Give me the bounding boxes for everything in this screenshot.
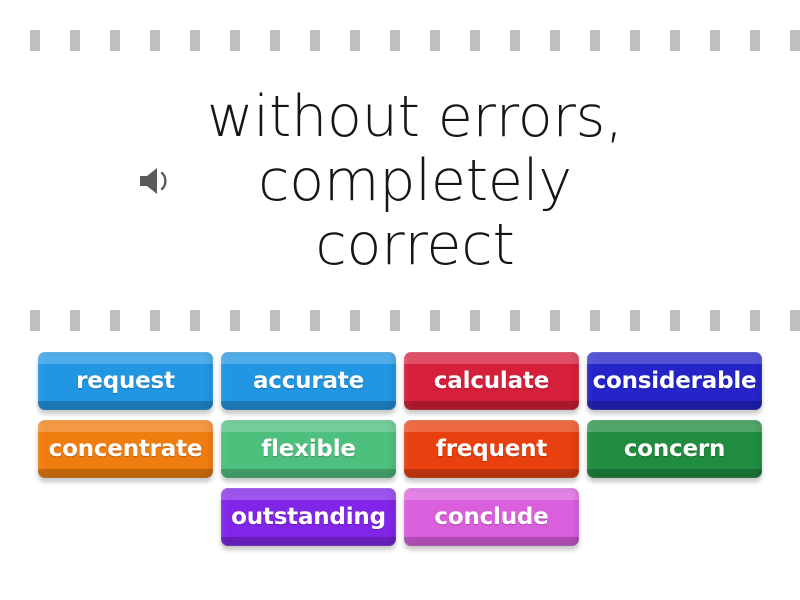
dash-mark xyxy=(310,30,320,51)
answer-tile-label: considerable xyxy=(588,368,762,394)
dash-mark xyxy=(190,30,200,51)
dash-mark xyxy=(710,310,720,331)
dash-mark xyxy=(230,30,240,51)
dash-mark xyxy=(390,310,400,331)
tile-sheen xyxy=(404,420,579,432)
dash-mark xyxy=(670,30,680,51)
answer-tile[interactable]: conclude xyxy=(404,488,579,546)
answer-tile-label: concentrate xyxy=(44,436,208,462)
dash-mark xyxy=(590,310,600,331)
tile-sheen xyxy=(404,352,579,364)
dash-mark xyxy=(510,30,520,51)
dash-mark xyxy=(350,310,360,331)
dash-mark xyxy=(390,30,400,51)
tile-bevel xyxy=(38,401,213,410)
dash-mark xyxy=(750,30,760,51)
tile-sheen xyxy=(587,420,762,432)
tile-sheen xyxy=(38,420,213,432)
tile-bevel xyxy=(404,401,579,410)
dash-mark xyxy=(590,30,600,51)
tile-sheen xyxy=(587,352,762,364)
dash-mark xyxy=(430,310,440,331)
answer-tile[interactable]: outstanding xyxy=(221,488,396,546)
dash-mark xyxy=(110,310,120,331)
dash-mark xyxy=(550,30,560,51)
tile-row-1: request accurate calculate considerable xyxy=(0,352,800,410)
tile-sheen xyxy=(404,488,579,500)
answer-tile-label: outstanding xyxy=(226,504,391,530)
answer-tile[interactable]: calculate xyxy=(404,352,579,410)
tile-bevel xyxy=(587,469,762,478)
dash-mark xyxy=(470,310,480,331)
tile-sheen xyxy=(221,352,396,364)
dash-mark xyxy=(790,30,800,51)
dash-mark xyxy=(430,30,440,51)
dash-mark xyxy=(350,30,360,51)
tile-row-2: concentrate flexible frequent concern xyxy=(0,420,800,478)
tile-sheen xyxy=(221,488,396,500)
dash-mark xyxy=(270,30,280,51)
tile-bevel xyxy=(221,537,396,546)
tile-bevel xyxy=(38,469,213,478)
dash-mark xyxy=(270,310,280,331)
prompt-text: without errors, completely correct xyxy=(135,86,695,277)
dash-mark xyxy=(630,30,640,51)
tile-bevel xyxy=(587,401,762,410)
answer-tile[interactable]: flexible xyxy=(221,420,396,478)
answer-tile[interactable]: request xyxy=(38,352,213,410)
dash-mark xyxy=(30,30,40,51)
dash-mark xyxy=(70,30,80,51)
dash-mark xyxy=(190,310,200,331)
dash-mark xyxy=(510,310,520,331)
dash-mark xyxy=(70,310,80,331)
answer-tile-label: conclude xyxy=(429,504,553,530)
dash-mark xyxy=(110,30,120,51)
answer-tile[interactable]: considerable xyxy=(587,352,762,410)
answer-tile-label: flexible xyxy=(256,436,361,462)
dashed-separator-middle xyxy=(0,310,800,331)
tile-sheen xyxy=(38,352,213,364)
dash-mark xyxy=(710,30,720,51)
answer-tile-label: request xyxy=(71,368,180,394)
answer-tile-label: calculate xyxy=(429,368,554,394)
dash-mark xyxy=(230,310,240,331)
dash-mark xyxy=(310,310,320,331)
answer-tile-label: frequent xyxy=(431,436,552,462)
dashed-separator-top xyxy=(0,30,800,51)
dash-mark xyxy=(150,30,160,51)
answer-tile[interactable]: frequent xyxy=(404,420,579,478)
answer-tile-label: accurate xyxy=(248,368,369,394)
answer-tiles: request accurate calculate considerable … xyxy=(0,352,800,556)
dash-mark xyxy=(470,30,480,51)
answer-tile[interactable]: concern xyxy=(587,420,762,478)
dash-mark xyxy=(550,310,560,331)
speaker-icon-glyph xyxy=(138,166,172,196)
speaker-icon[interactable] xyxy=(132,158,178,204)
dash-mark xyxy=(30,310,40,331)
tile-bevel xyxy=(404,469,579,478)
answer-tile-label: concern xyxy=(619,436,730,462)
dash-mark xyxy=(150,310,160,331)
answer-tile[interactable]: concentrate xyxy=(38,420,213,478)
tile-bevel xyxy=(404,537,579,546)
tile-sheen xyxy=(221,420,396,432)
dash-mark xyxy=(630,310,640,331)
tile-bevel xyxy=(221,469,396,478)
dash-mark xyxy=(670,310,680,331)
tile-row-3: outstanding conclude xyxy=(0,488,800,546)
answer-tile[interactable]: accurate xyxy=(221,352,396,410)
dash-mark xyxy=(750,310,760,331)
dash-mark xyxy=(790,310,800,331)
question-area: without errors, completely correct xyxy=(0,72,800,292)
tile-bevel xyxy=(221,401,396,410)
